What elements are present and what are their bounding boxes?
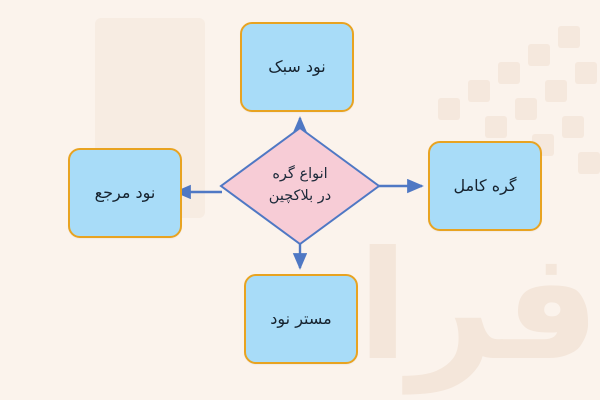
- center-node-label-line1: انواع گره: [272, 164, 327, 186]
- node-top-label: نود سبک: [268, 56, 325, 78]
- node-right[interactable]: گره کامل: [428, 141, 542, 231]
- center-node[interactable]: انواع گره در بلاکچین: [218, 125, 382, 247]
- center-node-label: انواع گره در بلاکچین: [218, 125, 382, 247]
- center-node-label-line2: در بلاکچین: [269, 186, 331, 208]
- node-left[interactable]: نود مرجع: [68, 148, 182, 238]
- node-bottom[interactable]: مستر نود: [244, 274, 358, 364]
- node-top[interactable]: نود سبک: [240, 22, 354, 112]
- node-bottom-label: مستر نود: [270, 308, 331, 330]
- node-left-label: نود مرجع: [95, 182, 156, 204]
- diagram-canvas: فرا س انواع گره در بلاکچین نود سبک گره ک…: [0, 0, 600, 400]
- node-right-label: گره کامل: [453, 175, 516, 197]
